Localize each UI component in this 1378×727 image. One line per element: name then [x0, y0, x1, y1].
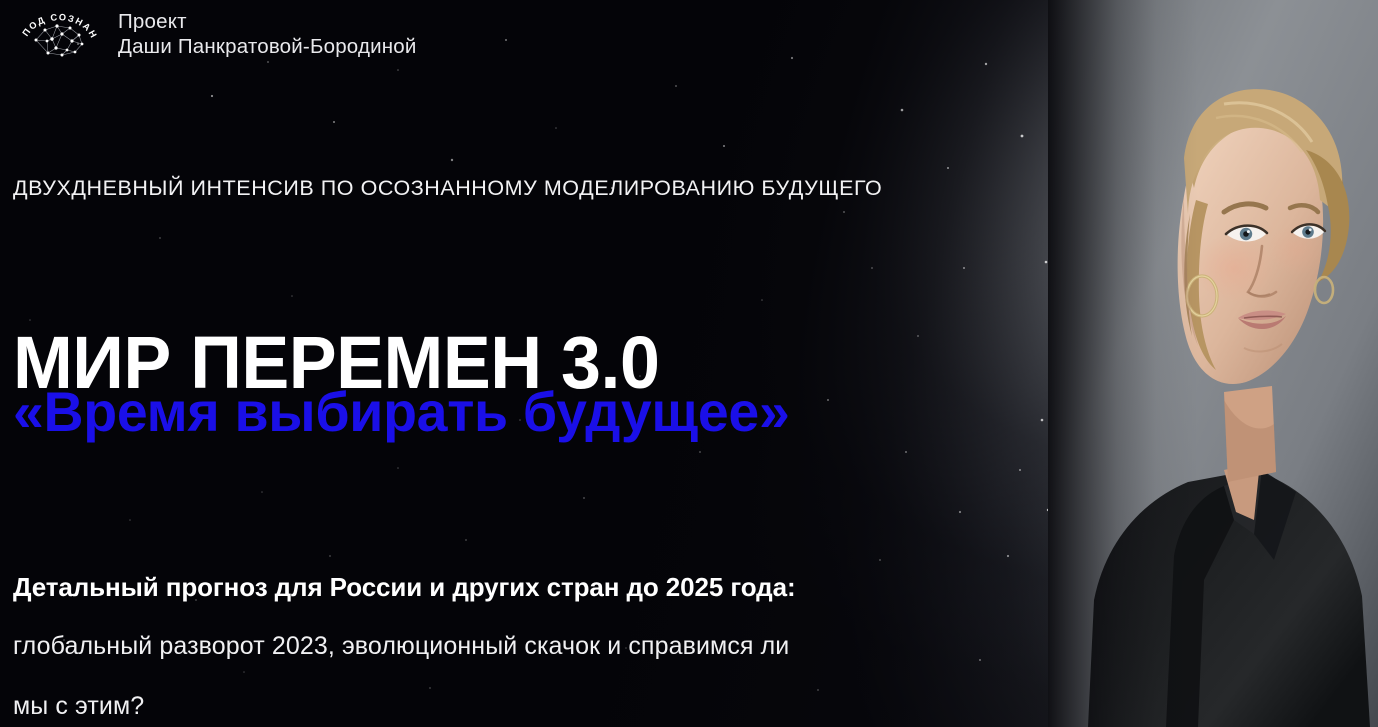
- hero-lead: Детальный прогноз для России и других ст…: [13, 574, 796, 600]
- page-subtitle: «Время выбирать будущее»: [13, 384, 790, 440]
- hero-content: ДВУХДНЕВНЫЙ ИНТЕНСИВ ПО ОСОЗНАННОМУ МОДЕ…: [13, 0, 1133, 727]
- hero-body-line-1: глобальный разворот 2023, эволюционный с…: [13, 634, 789, 659]
- hero-body-line-2: мы с этим?: [13, 694, 144, 719]
- brand-text: Проект Даши Панкратовой-Бородиной: [118, 8, 417, 59]
- brand-line-1: Проект: [118, 9, 417, 34]
- site-header: ПОД СОЗНАНИЕМ: [12, 8, 417, 64]
- landing-hero-page: ПОД СОЗНАНИЕМ: [0, 0, 1378, 727]
- hero-eyebrow: ДВУХДНЕВНЫЙ ИНТЕНСИВ ПО ОСОЗНАННОМУ МОДЕ…: [13, 176, 882, 201]
- brand-line-2: Даши Панкратовой-Бородиной: [118, 34, 417, 59]
- brain-network-logo-icon[interactable]: ПОД СОЗНАНИЕМ: [12, 8, 106, 64]
- svg-text:ПОД СОЗНАНИЕМ: ПОД СОЗНАНИЕМ: [12, 8, 99, 41]
